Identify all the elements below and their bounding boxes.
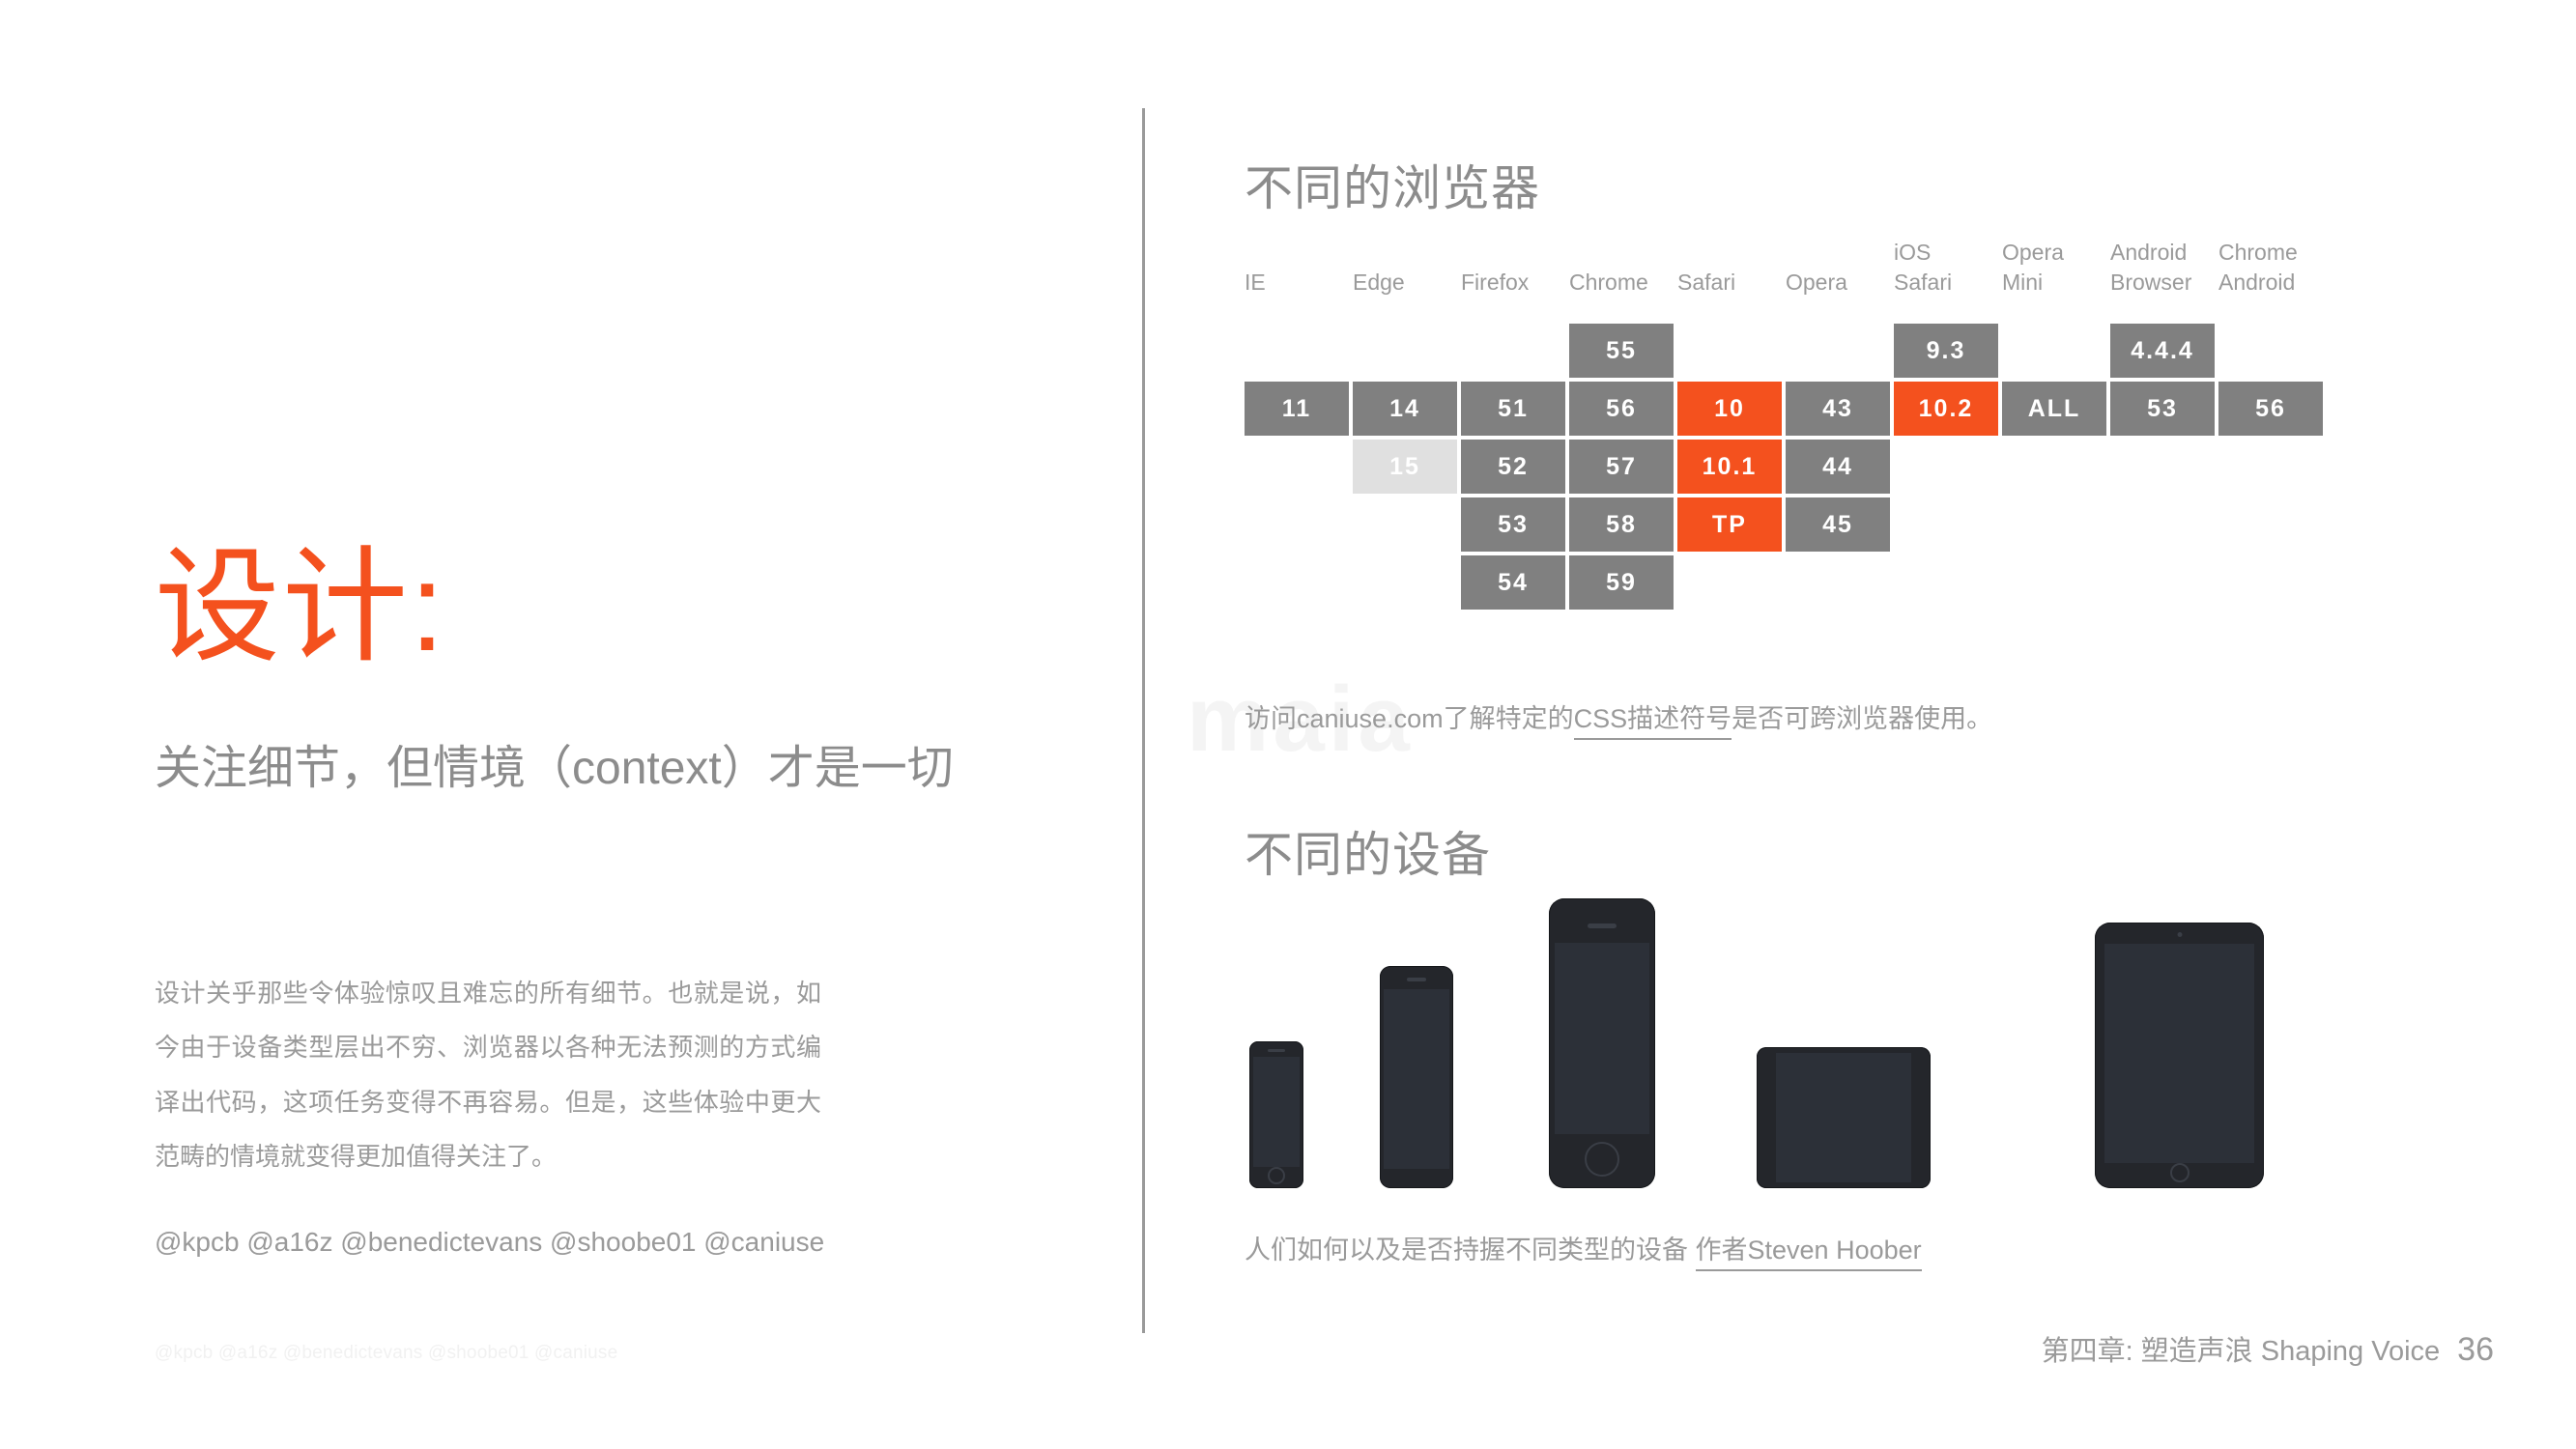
matrix-cell[interactable]: 55 — [1569, 324, 1674, 378]
matrix-cell[interactable]: 51 — [1461, 382, 1565, 436]
matrix-column-cells: 11 — [1245, 324, 1349, 436]
matrix-cell[interactable]: 53 — [2110, 382, 2215, 436]
matrix-cell-empty — [1353, 324, 1457, 378]
matrix-column-safari: Safari1010.1TP — [1677, 235, 1782, 610]
matrix-cell[interactable]: 53 — [1461, 497, 1565, 552]
matrix-column-cells: 9.310.2 — [1894, 324, 1998, 436]
matrix-cell-empty — [1245, 324, 1349, 378]
browsers-heading: 不同的浏览器 — [1245, 150, 1540, 219]
matrix-cell[interactable]: 54 — [1461, 555, 1565, 610]
matrix-column-opera: Opera434445 — [1786, 235, 1890, 610]
phone-screen — [1555, 943, 1649, 1134]
matrix-column-cells: 1010.1TP — [1677, 324, 1782, 552]
matrix-cell[interactable]: ALL — [2002, 382, 2106, 436]
matrix-cell[interactable]: 4.4.4 — [2110, 324, 2215, 378]
matrix-cell[interactable]: TP — [1677, 497, 1782, 552]
matrix-cell[interactable]: 58 — [1569, 497, 1674, 552]
matrix-cell[interactable]: 52 — [1461, 440, 1565, 494]
matrix-cell-empty — [2218, 324, 2323, 378]
matrix-cell[interactable]: 11 — [1245, 382, 1349, 436]
matrix-column-header: Opera — [1786, 235, 1890, 298]
device-phone-small-icon — [1249, 1041, 1303, 1188]
matrix-column-header: IE — [1245, 235, 1349, 298]
social-handles-ghost: @kpcb @a16z @benedictevans @shoobe01 @ca… — [155, 1343, 617, 1364]
device-illustrations — [1245, 898, 2520, 1188]
social-handles: @kpcb @a16z @benedictevans @shoobe01 @ca… — [155, 1227, 824, 1258]
phone-speaker-icon — [1268, 1049, 1285, 1052]
browsers-caption-post: 是否可跨浏览器使用。 — [1732, 704, 1992, 733]
matrix-cell[interactable]: 56 — [1569, 382, 1674, 436]
tablet-screen — [1776, 1053, 1911, 1182]
matrix-cell[interactable]: 9.3 — [1894, 324, 1998, 378]
matrix-column-cells: 56 — [2218, 324, 2323, 436]
matrix-cell[interactable]: 44 — [1786, 440, 1890, 494]
matrix-cell-empty — [2002, 324, 2106, 378]
phone-screen — [1384, 989, 1449, 1169]
slide-canvas: 设计: 关注细节，但情境（context）才是一切 设计关乎那些令体验惊叹且难忘… — [0, 0, 2576, 1449]
matrix-cell[interactable]: 56 — [2218, 382, 2323, 436]
page-title: 设计: — [155, 541, 446, 673]
matrix-column-android-browser: Android Browser4.4.453 — [2110, 235, 2215, 610]
matrix-column-header: Chrome Android — [2218, 235, 2323, 298]
footer-chapter-label: 第四章: 塑造声浪 Shaping Voice — [2042, 1336, 2441, 1367]
tablet-home-button-icon — [2170, 1163, 2190, 1182]
matrix-cell[interactable]: 10.1 — [1677, 440, 1782, 494]
matrix-cell[interactable]: 57 — [1569, 440, 1674, 494]
matrix-column-cells: 434445 — [1786, 324, 1890, 552]
devices-caption: 人们如何以及是否持握不同类型的设备 作者Steven Hoober — [1245, 1229, 1922, 1266]
page-subtitle: 关注细节，但情境（context）才是一切 — [155, 739, 954, 799]
matrix-column-cells: 51525354 — [1461, 324, 1565, 610]
matrix-column-ie: IE11 — [1245, 235, 1349, 610]
matrix-column-cells: 4.4.453 — [2110, 324, 2215, 436]
matrix-cell[interactable]: 10.2 — [1894, 382, 1998, 436]
left-column: 设计: 关注细节，但情境（context）才是一切 设计关乎那些令体验惊叹且难忘… — [155, 0, 1082, 1449]
matrix-column-opera-mini: Opera MiniALL — [2002, 235, 2106, 610]
matrix-column-header: Firefox — [1461, 235, 1565, 298]
phone-home-button-icon — [1585, 1142, 1619, 1177]
page-number: 36 — [2457, 1331, 2494, 1368]
browsers-caption-link[interactable]: CSS描述符号 — [1574, 704, 1732, 740]
phone-speaker-icon — [1407, 978, 1426, 981]
matrix-column-chrome-android: Chrome Android56 — [2218, 235, 2323, 610]
matrix-column-cells: ALL — [2002, 324, 2106, 436]
matrix-cell-empty — [1677, 324, 1782, 378]
browsers-caption-pre: 访问caniuse.com了解特定的 — [1245, 704, 1574, 733]
tablet-screen — [2104, 944, 2254, 1163]
matrix-cell[interactable]: 14 — [1353, 382, 1457, 436]
matrix-cell-empty — [1461, 324, 1565, 378]
matrix-column-header: iOS Safari — [1894, 235, 1998, 298]
matrix-cell[interactable]: 45 — [1786, 497, 1890, 552]
device-phone-android-icon — [1380, 966, 1453, 1188]
matrix-column-header: Android Browser — [2110, 235, 2215, 298]
matrix-column-cells: 5556575859 — [1569, 324, 1674, 610]
browsers-caption: 访问caniuse.com了解特定的CSS描述符号是否可跨浏览器使用。 — [1245, 697, 1992, 735]
slide-footer: 第四章: 塑造声浪 Shaping Voice36 — [2042, 1328, 2494, 1369]
devices-heading: 不同的设备 — [1245, 816, 1491, 886]
matrix-cell[interactable]: 15 — [1353, 440, 1457, 494]
matrix-column-header: Opera Mini — [2002, 235, 2106, 298]
phone-screen — [1253, 1057, 1300, 1167]
matrix-column-chrome: Chrome5556575859 — [1569, 235, 1674, 610]
body-paragraph: 设计关乎那些令体验惊叹且难忘的所有细节。也就是说，如今由于设备类型层出不穷、浏览… — [155, 966, 821, 1184]
phone-speaker-icon — [1588, 923, 1617, 928]
matrix-column-firefox: Firefox51525354 — [1461, 235, 1565, 610]
tablet-camera-icon — [2177, 932, 2182, 937]
device-tablet-landscape-icon — [1757, 1047, 1931, 1188]
device-phone-plus-icon — [1549, 898, 1655, 1188]
matrix-column-ios-safari: iOS Safari9.310.2 — [1894, 235, 1998, 610]
matrix-column-header: Safari — [1677, 235, 1782, 298]
matrix-column-header: Edge — [1353, 235, 1457, 298]
devices-caption-pre: 人们如何以及是否持握不同类型的设备 — [1245, 1236, 1696, 1264]
browser-support-matrix: IE11Edge1415Firefox51525354Chrome5556575… — [1245, 235, 2323, 610]
matrix-cell[interactable]: 43 — [1786, 382, 1890, 436]
matrix-cell[interactable]: 59 — [1569, 555, 1674, 610]
matrix-column-edge: Edge1415 — [1353, 235, 1457, 610]
matrix-column-header: Chrome — [1569, 235, 1674, 298]
devices-caption-link[interactable]: 作者Steven Hoober — [1696, 1236, 1922, 1271]
right-column: 不同的浏览器 IE11Edge1415Firefox51525354Chrome… — [1245, 0, 2520, 1449]
device-tablet-portrait-icon — [2095, 923, 2264, 1188]
column-divider — [1142, 108, 1145, 1333]
matrix-cell-empty — [1786, 324, 1890, 378]
matrix-cell[interactable]: 10 — [1677, 382, 1782, 436]
phone-home-button-icon — [1268, 1167, 1285, 1184]
matrix-column-cells: 1415 — [1353, 324, 1457, 494]
